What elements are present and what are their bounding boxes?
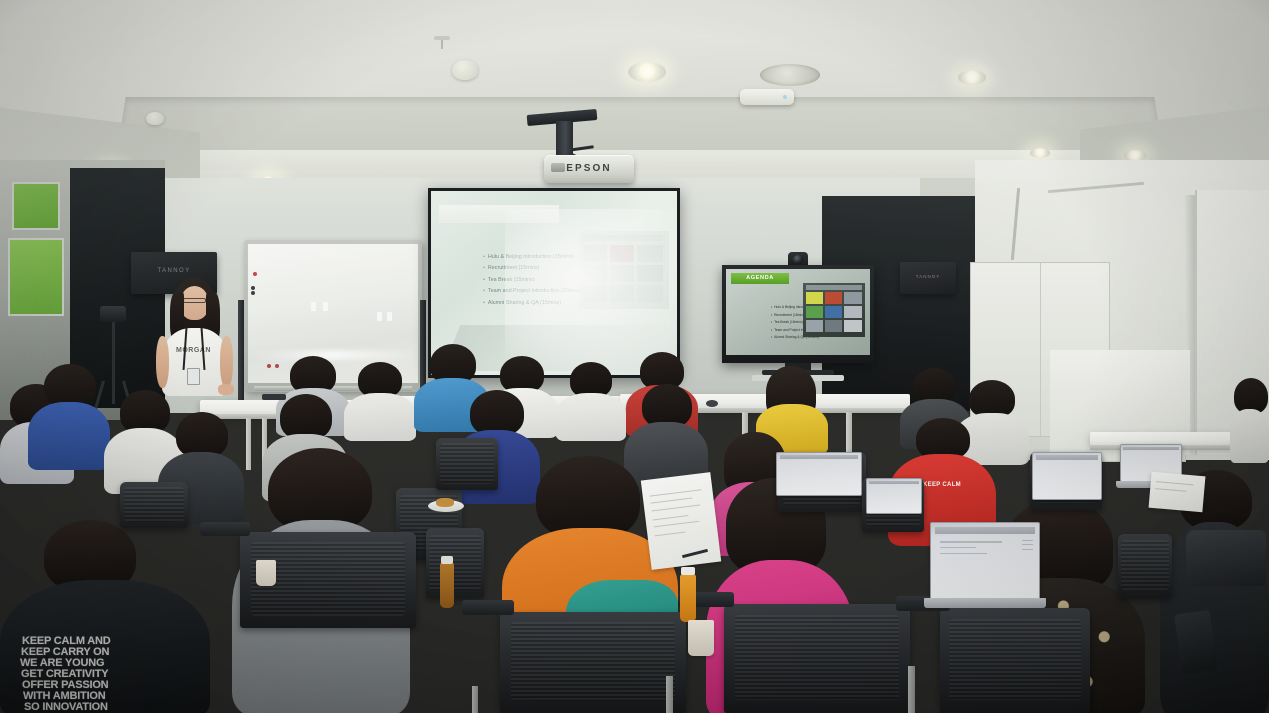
presenter-arm — [156, 336, 169, 388]
handout-paper[interactable] — [641, 472, 721, 570]
whiteboard-stand-leg — [238, 300, 244, 400]
laptop-menu-bar — [1036, 455, 1099, 460]
bottle-cap[interactable] — [681, 567, 695, 575]
recessed-downlight — [958, 70, 986, 85]
bag — [1186, 530, 1266, 586]
whiteboard-magnet — [251, 291, 255, 295]
presenter-glasses — [183, 298, 206, 303]
drink-bottle[interactable] — [680, 574, 696, 622]
sprinkler-head — [434, 36, 450, 40]
wall-speaker-right: TANNOY — [900, 262, 956, 294]
laptop-menu-bar — [1123, 447, 1178, 451]
presenter-head — [180, 286, 209, 320]
recessed-downlight — [1030, 148, 1050, 158]
wifi-access-point — [740, 89, 794, 105]
office-chair — [724, 604, 910, 713]
whiteboard-magnet — [251, 286, 255, 290]
smoke-detector — [452, 60, 478, 80]
wall-speaker-brand: TANNOY — [131, 268, 217, 274]
whiteboard-magnet — [267, 364, 271, 368]
chair-post — [908, 666, 915, 713]
paper-cup[interactable] — [688, 620, 714, 656]
tv-agenda-banner: AGENDA — [731, 273, 789, 284]
camera-on-tripod — [100, 306, 126, 322]
chair-post — [472, 686, 478, 713]
chair-post — [666, 676, 673, 713]
conference-room-photo: TANNOY TANNOY EPSON Hul — [0, 0, 1269, 713]
green-glass-panel — [12, 182, 60, 230]
green-glass-door — [8, 238, 64, 316]
wall-speaker-brand: TANNOY — [900, 274, 956, 279]
laptop-keyboard[interactable] — [924, 598, 1046, 608]
smoke-detector — [146, 112, 164, 125]
presenter-shirt-text: MORGAN — [176, 348, 211, 355]
laptop-menu-bar — [780, 455, 857, 459]
laptop-screen[interactable] — [930, 522, 1040, 600]
office-chair — [1118, 534, 1172, 598]
drink-bottle[interactable] — [440, 562, 454, 608]
attendee-near-slogan-tee: KEEP CALM AND KEEP CARRY ON WE ARE YOUNG… — [0, 520, 210, 713]
presenter-hand — [218, 384, 234, 395]
attendee-far — [1230, 378, 1269, 456]
office-chair — [500, 612, 686, 713]
snack-food — [436, 498, 454, 507]
ceiling-speaker — [760, 64, 820, 86]
presenter-arm — [220, 336, 233, 388]
laptop-menu-bar — [869, 481, 919, 484]
laptop-screen[interactable] — [1032, 452, 1102, 500]
office-chair — [120, 482, 188, 528]
whiteboard-magnet — [253, 272, 257, 276]
chair-armrest — [200, 522, 250, 536]
attendee-far — [344, 362, 416, 430]
mouse[interactable] — [706, 400, 718, 407]
presenter-id-badge — [187, 368, 200, 385]
laptop-menu-bar — [935, 527, 1034, 535]
attendee-mid — [28, 364, 110, 468]
remote-control[interactable] — [262, 394, 286, 400]
laptop-screen[interactable] — [866, 478, 922, 514]
projector-mount — [556, 121, 573, 159]
paper-cup[interactable] — [256, 560, 276, 586]
bottle-cap[interactable] — [441, 556, 453, 564]
projector-lens — [551, 163, 565, 172]
laptop-screen[interactable] — [776, 452, 862, 496]
camera-lens — [793, 255, 803, 264]
tv-agenda-heading: AGENDA — [731, 273, 789, 284]
office-chair — [940, 608, 1090, 713]
tv-screen: AGENDA Hulu & Beijing Introduction (15mi… — [726, 269, 870, 355]
attendee-far — [756, 366, 828, 440]
office-chair — [436, 438, 498, 490]
wall-tv-display: AGENDA Hulu & Beijing Introduction (15mi… — [722, 265, 874, 363]
attendee-far — [556, 362, 626, 430]
chair-armrest — [462, 600, 514, 615]
handout-paper[interactable] — [1149, 472, 1206, 513]
office-chair — [426, 528, 484, 598]
tv-screenshot-thumbnail — [803, 283, 865, 337]
recessed-downlight — [628, 62, 666, 82]
